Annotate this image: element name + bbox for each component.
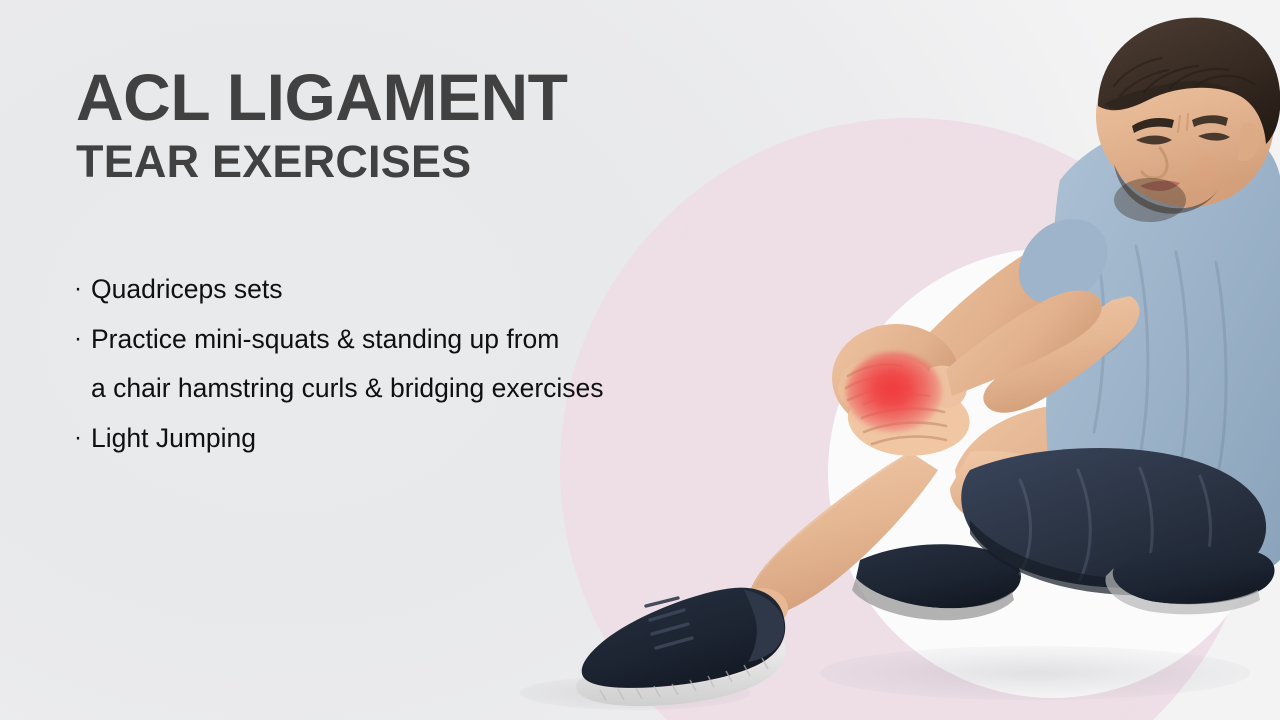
bullet-dot-icon: · bbox=[74, 276, 91, 301]
list-item: · Practice mini-squats & standing up fro… bbox=[74, 326, 814, 353]
bullet-dot-icon: · bbox=[74, 425, 91, 450]
list-item: · Quadriceps sets bbox=[74, 276, 814, 303]
poster-canvas: ACL LIGAMENT TEAR EXERCISES · Quadriceps… bbox=[0, 0, 1280, 720]
list-item: · Light Jumping bbox=[74, 425, 814, 452]
exercise-list: · Quadriceps sets · Practice mini-squats… bbox=[74, 276, 814, 474]
list-item-continuation: a chair hamstring curls & bridging exerc… bbox=[74, 375, 814, 402]
list-item-label: Practice mini-squats & standing up from bbox=[91, 326, 814, 353]
list-item-label: Quadriceps sets bbox=[91, 276, 814, 303]
page-title: ACL LIGAMENT bbox=[76, 66, 776, 129]
list-item-label: Light Jumping bbox=[91, 425, 814, 452]
bullet-dot-icon: · bbox=[74, 326, 91, 351]
page-subtitle: TEAR EXERCISES bbox=[76, 139, 776, 184]
headline-block: ACL LIGAMENT TEAR EXERCISES bbox=[76, 66, 776, 184]
